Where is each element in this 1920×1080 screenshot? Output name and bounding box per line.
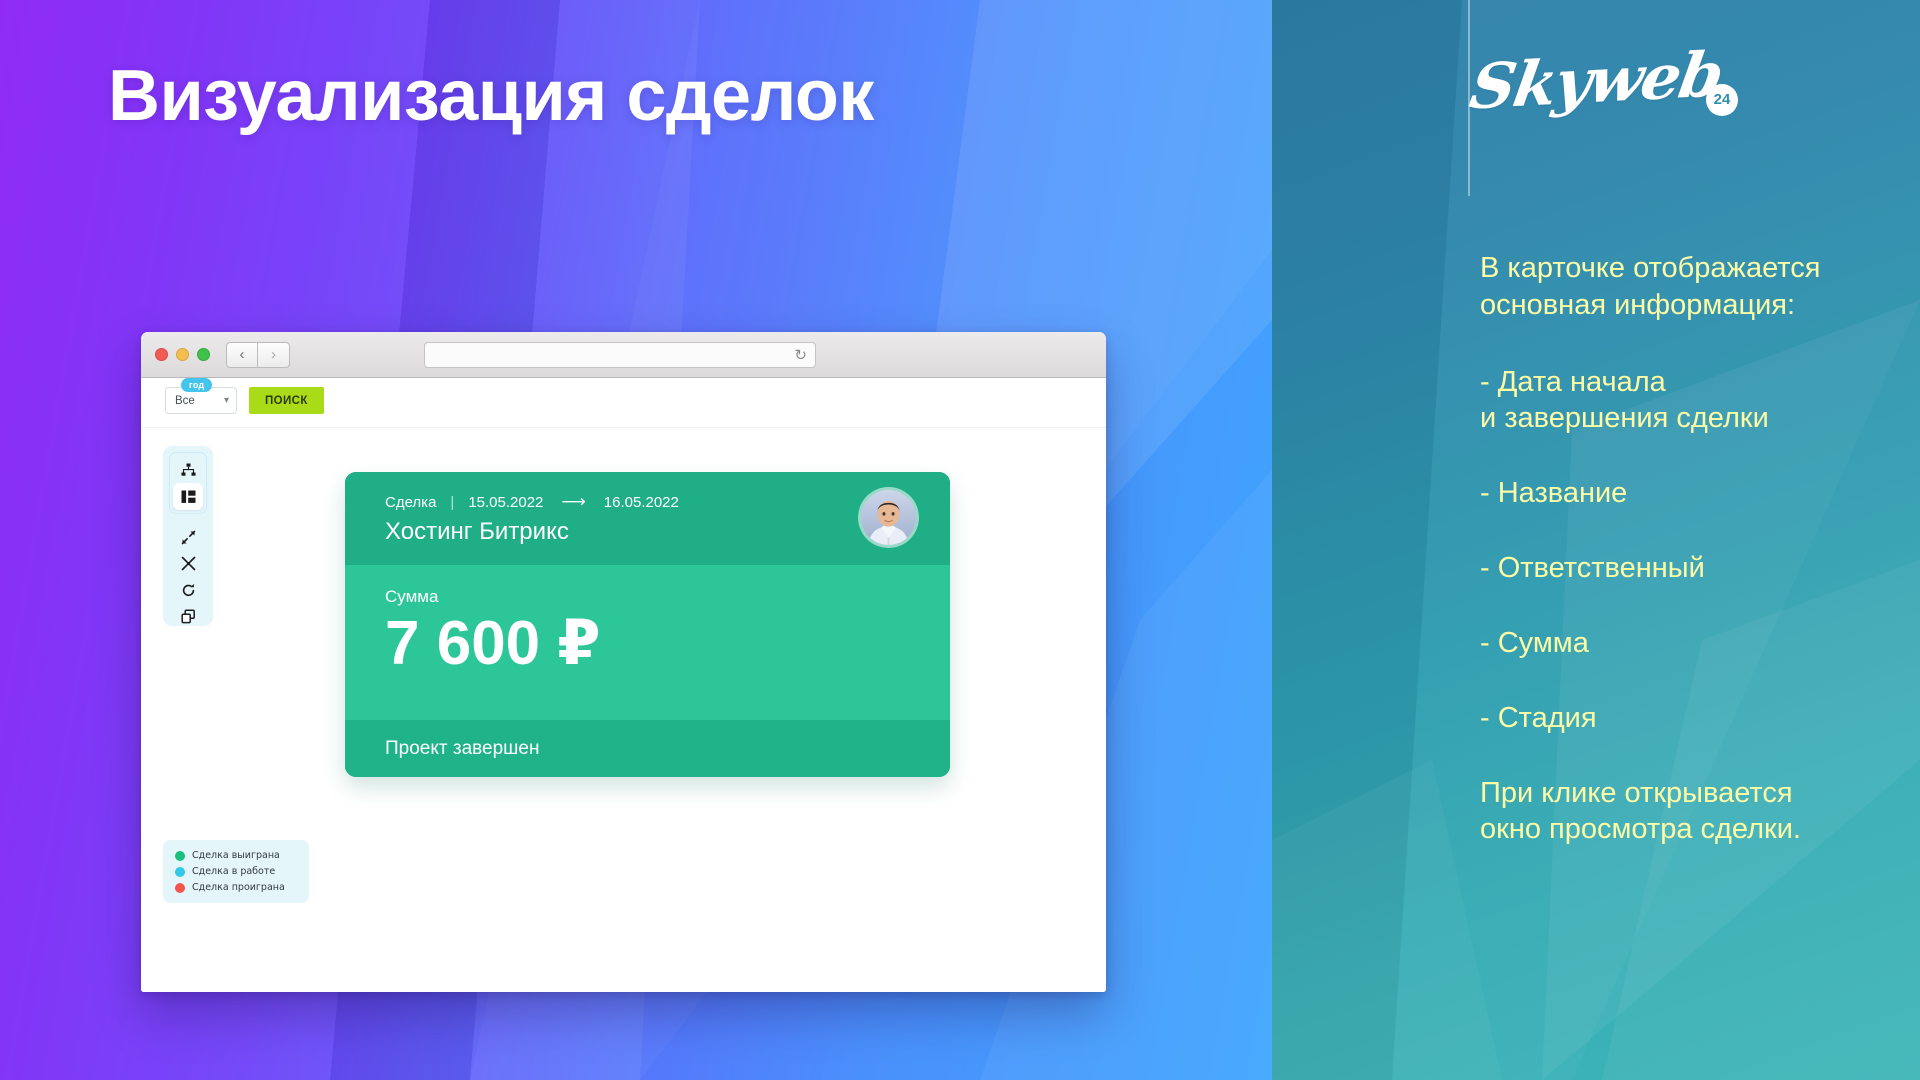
deal-card-body: Сумма 7 600 ₽ (345, 565, 950, 720)
org-chart-icon (181, 463, 196, 477)
expand-button[interactable] (173, 554, 203, 573)
collapse-button[interactable] (173, 528, 203, 547)
reload-icon[interactable]: ↻ (794, 348, 807, 363)
notes-item: - Стадия (1480, 700, 1910, 737)
deal-canvas: ₽ Сделка | 15.05.2022 ⟶ 16.05.2022 Хости… (141, 428, 1106, 992)
view-toolbar (163, 446, 213, 626)
back-button[interactable]: ‹ (226, 342, 258, 368)
notes-item: - Ответственный (1480, 550, 1910, 587)
deal-end-date: 16.05.2022 (604, 494, 679, 511)
page-title: Визуализация сделок (108, 58, 874, 136)
chevron-right-icon: › (271, 347, 276, 362)
app-toolbar: год Все ▾ поиск (141, 378, 1106, 428)
chevron-left-icon: ‹ (240, 347, 245, 362)
deal-meta: Сделка | 15.05.2022 ⟶ 16.05.2022 (385, 492, 926, 512)
deal-meta-separator: | (450, 494, 454, 511)
notes-panel: В карточке отображается основная информа… (1480, 250, 1910, 848)
legend-item: Сделка в работе (175, 866, 297, 877)
arrow-right-icon: ⟶ (557, 492, 589, 512)
legend-color-dot (175, 883, 185, 893)
year-badge: год (181, 378, 212, 392)
legend-label: Сделка в работе (192, 866, 275, 877)
traffic-lights (155, 348, 210, 361)
legend: Сделка выиграна Сделка в работе Сделка п… (163, 840, 309, 903)
notes-item: - Дата начала и завершения сделки (1480, 364, 1910, 438)
legend-color-dot (175, 867, 185, 877)
expand-icon (181, 556, 196, 571)
year-filter: год Все ▾ (165, 387, 237, 414)
deal-card-header: Сделка | 15.05.2022 ⟶ 16.05.2022 Хостинг… (345, 472, 950, 565)
logo-wordmark: Skyweb (1272, 27, 1920, 134)
close-window-button[interactable] (155, 348, 168, 361)
copy-icon (181, 609, 196, 624)
avatar-photo-icon (861, 490, 916, 545)
zoom-window-button[interactable] (197, 348, 210, 361)
collapse-icon (181, 530, 196, 545)
nav-buttons: ‹ › (226, 342, 290, 368)
forward-button[interactable]: › (258, 342, 290, 368)
notes-item: - Сумма (1480, 625, 1910, 662)
filter-row: год Все ▾ поиск (165, 387, 324, 414)
legend-label: Сделка выиграна (192, 850, 280, 861)
org-chart-view-button[interactable] (173, 456, 203, 483)
legend-item: Сделка проиграна (175, 882, 297, 893)
legend-label: Сделка проиграна (192, 882, 285, 893)
browser-chrome: ‹ › ↻ + (141, 332, 1106, 378)
deal-title: Хостинг Битрикс (385, 518, 926, 546)
chevron-down-icon: ▾ (224, 395, 229, 406)
tree-layout-view-button[interactable] (173, 483, 203, 510)
avatar[interactable] (861, 490, 916, 545)
notes-intro: В карточке отображается основная информа… (1480, 250, 1910, 324)
deal-type-label: Сделка (385, 494, 436, 511)
notes-outro: При клике открывается окно просмотра сде… (1480, 775, 1910, 849)
minimize-window-button[interactable] (176, 348, 189, 361)
tree-layout-icon (181, 490, 196, 504)
legend-item: Сделка выиграна (175, 850, 297, 861)
browser-window: ‹ › ↻ + (141, 332, 1106, 992)
refresh-icon (181, 583, 196, 598)
sum-value: 7 600 ₽ (385, 611, 950, 676)
search-button[interactable]: поиск (249, 387, 324, 414)
deal-card-footer: Проект завершен (345, 720, 950, 777)
deal-card[interactable]: ₽ Сделка | 15.05.2022 ⟶ 16.05.2022 Хости… (345, 472, 950, 777)
view-mode-group (169, 452, 207, 514)
deal-stage: Проект завершен (385, 738, 539, 760)
year-select-value: Все (175, 395, 195, 407)
notes-item: - Название (1480, 475, 1910, 512)
right-panel: Skyweb 24 В карточке отображается основн… (1272, 0, 1920, 1080)
deal-start-date: 15.05.2022 (468, 494, 543, 511)
refresh-button[interactable] (173, 581, 203, 600)
address-bar[interactable]: ↻ (424, 342, 816, 368)
sum-label: Сумма (385, 587, 950, 607)
brand-logo: Skyweb 24 (1272, 40, 1920, 160)
left-panel: Визуализация сделок ‹ › (0, 0, 1272, 1080)
slide-root: Визуализация сделок ‹ › (0, 0, 1920, 1080)
logo-badge: 24 (1706, 84, 1738, 116)
app-content: год Все ▾ поиск (141, 378, 1106, 992)
copy-button[interactable] (173, 607, 203, 626)
legend-color-dot (175, 851, 185, 861)
